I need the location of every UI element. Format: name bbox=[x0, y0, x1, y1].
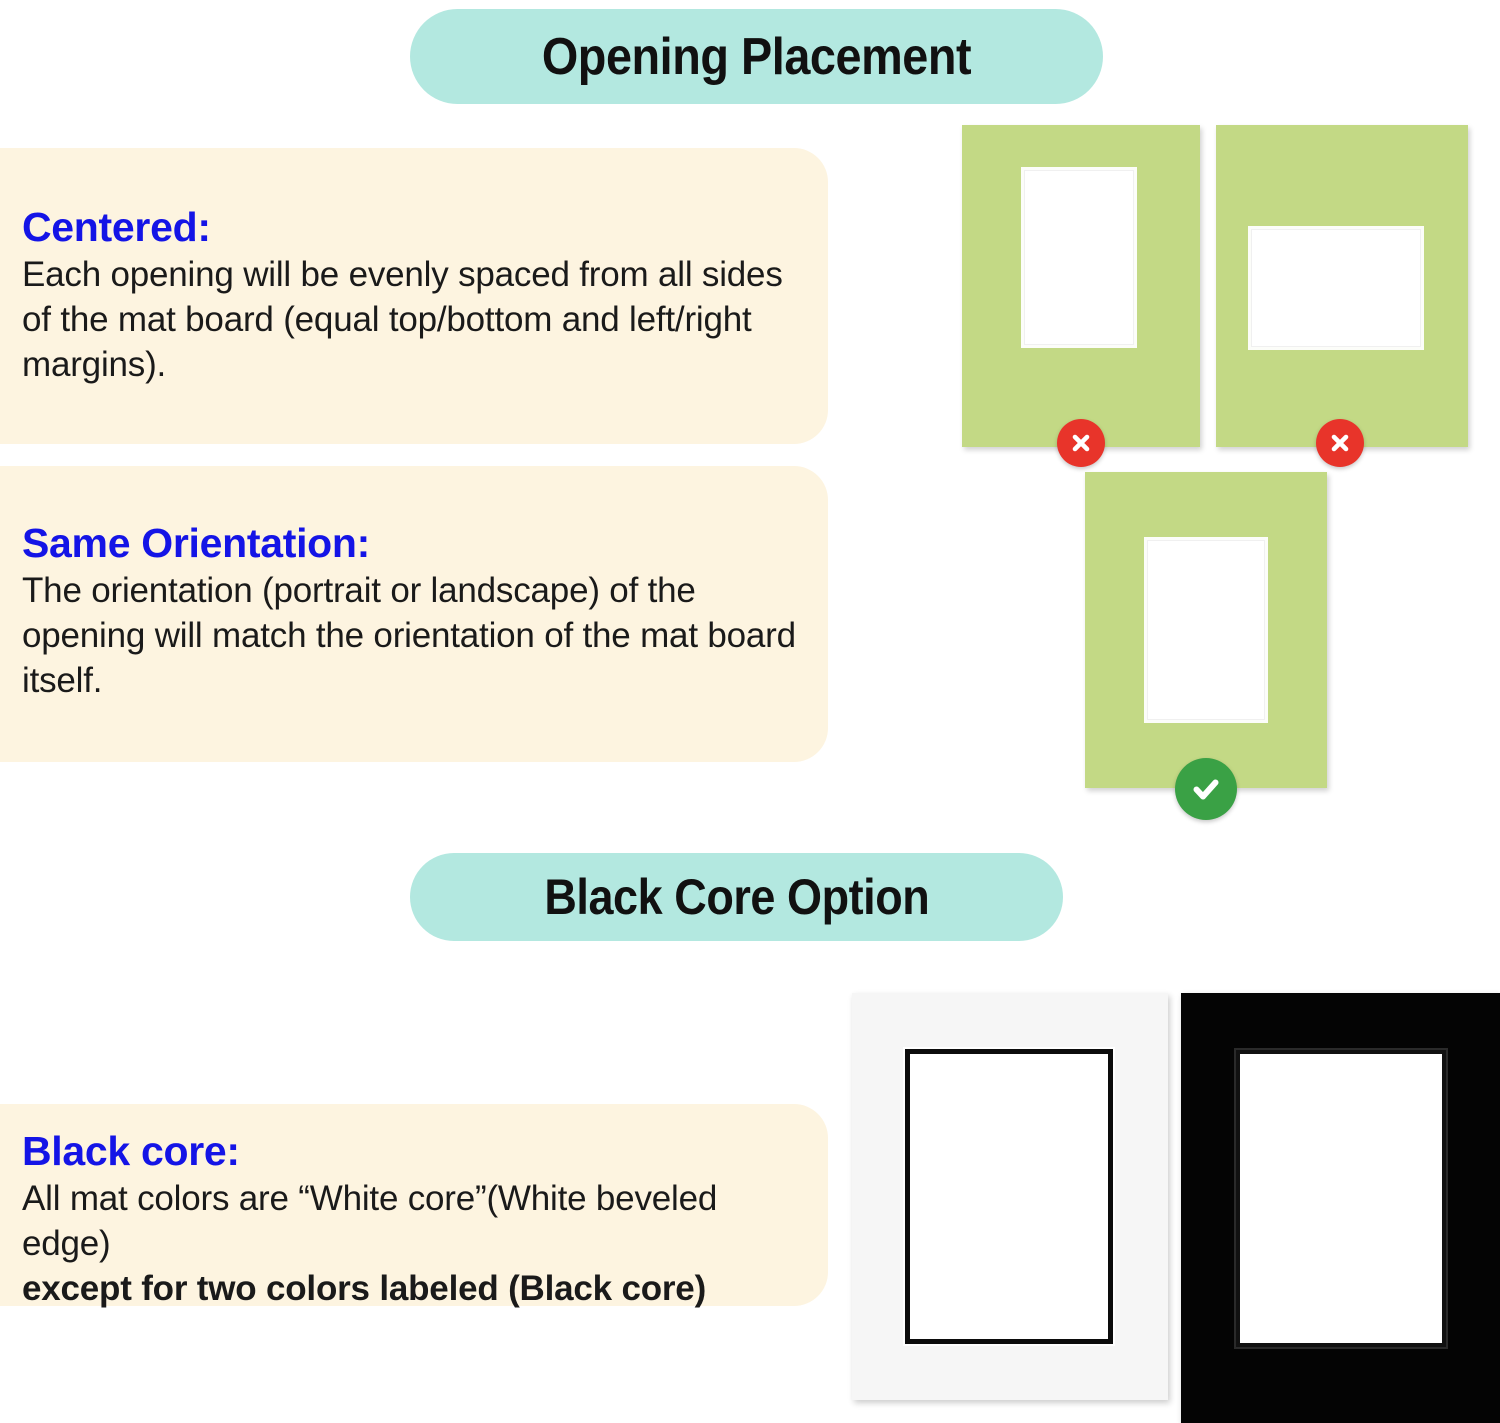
banner-black-core-option: Black Core Option bbox=[410, 853, 1063, 941]
info-card-centered-heading: Centered: bbox=[22, 206, 802, 249]
mat-opening-portrait-off-center bbox=[1024, 170, 1134, 345]
info-card-black-core-heading: Black core: bbox=[22, 1130, 802, 1173]
info-card-black-core: Black core: All mat colors are “White co… bbox=[0, 1104, 828, 1306]
info-card-same-orientation: Same Orientation: The orientation (portr… bbox=[0, 466, 828, 762]
mat-board-centered-portrait bbox=[1085, 472, 1327, 788]
info-card-centered: Centered: Each opening will be evenly sp… bbox=[0, 148, 828, 444]
info-card-centered-body: Each opening will be evenly spaced from … bbox=[22, 253, 802, 387]
banner-opening-placement: Opening Placement bbox=[410, 9, 1103, 104]
info-card-black-core-content: Black core: All mat colors are “White co… bbox=[22, 1130, 802, 1311]
info-card-same-orientation-body: The orientation (portrait or landscape) … bbox=[22, 569, 802, 703]
info-card-same-orientation-content: Same Orientation: The orientation (portr… bbox=[22, 522, 802, 703]
check-mark-icon bbox=[1175, 758, 1237, 820]
mat-opening-black-core-bevel bbox=[1236, 1050, 1446, 1347]
mat-board-black-with-black-core bbox=[1181, 993, 1500, 1423]
x-mark-icon bbox=[1316, 419, 1364, 467]
info-card-centered-content: Centered: Each opening will be evenly sp… bbox=[22, 206, 802, 387]
banner-opening-placement-title: Opening Placement bbox=[542, 27, 971, 87]
mat-opening-black-core-bevel bbox=[905, 1049, 1113, 1344]
info-card-same-orientation-heading: Same Orientation: bbox=[22, 522, 802, 565]
x-mark-icon bbox=[1057, 419, 1105, 467]
info-card-black-core-body-line-2: except for two colors labeled (Black cor… bbox=[22, 1267, 802, 1312]
info-card-black-core-body-line-1: All mat colors are “White core”(White be… bbox=[22, 1177, 802, 1267]
mat-board-off-center-portrait bbox=[962, 125, 1200, 447]
mat-opening-landscape bbox=[1251, 229, 1421, 347]
mat-board-white-with-black-core bbox=[852, 993, 1168, 1400]
mat-opening-portrait-centered bbox=[1147, 540, 1265, 720]
mat-board-landscape-opening bbox=[1216, 125, 1468, 447]
banner-black-core-option-title: Black Core Option bbox=[544, 868, 929, 926]
